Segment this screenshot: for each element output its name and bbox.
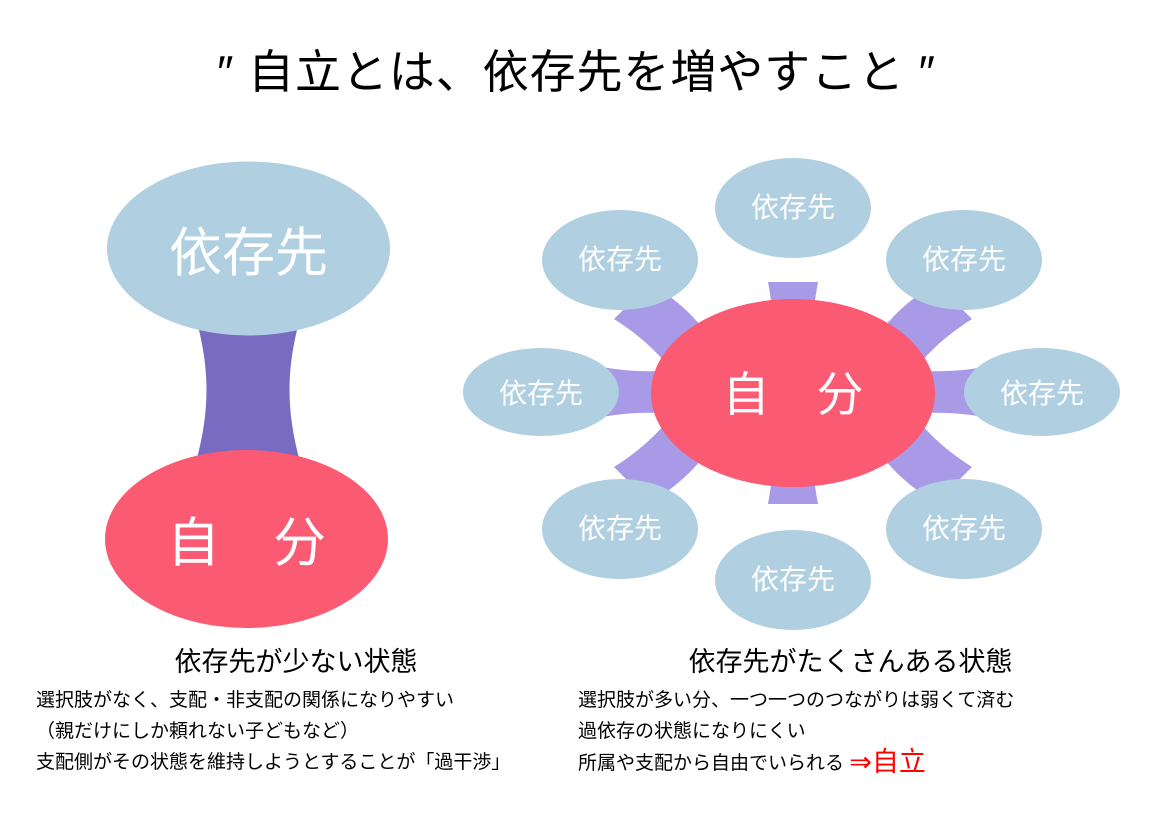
page-title: ″ 自立とは、依存先を増やすこと ″ — [0, 44, 1153, 100]
left-caption-block: 依存先が少ない状態 選択肢がなく、支配・非支配の関係になりやすい （親だけにしか… — [36, 645, 556, 778]
node-dep-bottom[interactable] — [715, 530, 871, 630]
right-caption-block: 依存先がたくさんある状態 選択肢が多い分、一つ一つのつながりは弱くて済む 過依存… — [578, 645, 1123, 779]
node-dep-top[interactable] — [715, 158, 871, 258]
right-caption-line-1: 選択肢が多い分、一つ一つのつながりは弱くて済む — [578, 685, 1123, 716]
node-dep-right[interactable] — [964, 348, 1120, 436]
diagram-page: ″ 自立とは、依存先を増やすこと ″ — [0, 0, 1153, 826]
right-caption-line-3-text: 所属や支配から自由でいられる — [578, 753, 849, 774]
few-dependencies-diagram — [105, 162, 390, 629]
independence-accent-label: ⇒自立 — [849, 747, 926, 777]
left-caption-line-3: 支配側がその状態を維持しようとすることが「過干渉」 — [36, 747, 556, 778]
node-self[interactable] — [105, 450, 388, 628]
node-dependency[interactable] — [107, 162, 390, 336]
node-dep-top-left[interactable] — [542, 210, 698, 310]
right-caption-line-3: 所属や支配から自由でいられる ⇒自立 — [578, 747, 1123, 779]
node-dep-bottom-left[interactable] — [542, 479, 698, 579]
right-caption-line-2: 過依存の状態になりにくい — [578, 716, 1123, 747]
many-dependencies-diagram — [463, 158, 1120, 630]
right-caption-heading: 依存先がたくさんある状態 — [578, 645, 1123, 679]
left-caption-line-2: （親だけにしか頼れない子どもなど） — [36, 716, 556, 747]
left-caption-heading: 依存先が少ない状態 — [36, 645, 556, 679]
left-caption-line-1: 選択肢がなく、支配・非支配の関係になりやすい — [36, 685, 556, 716]
node-self-center[interactable] — [651, 299, 935, 487]
node-dep-left[interactable] — [463, 348, 619, 436]
link-dependency-to-self — [196, 318, 300, 462]
node-dep-top-right[interactable] — [886, 210, 1042, 310]
node-dep-bottom-right[interactable] — [886, 479, 1042, 579]
